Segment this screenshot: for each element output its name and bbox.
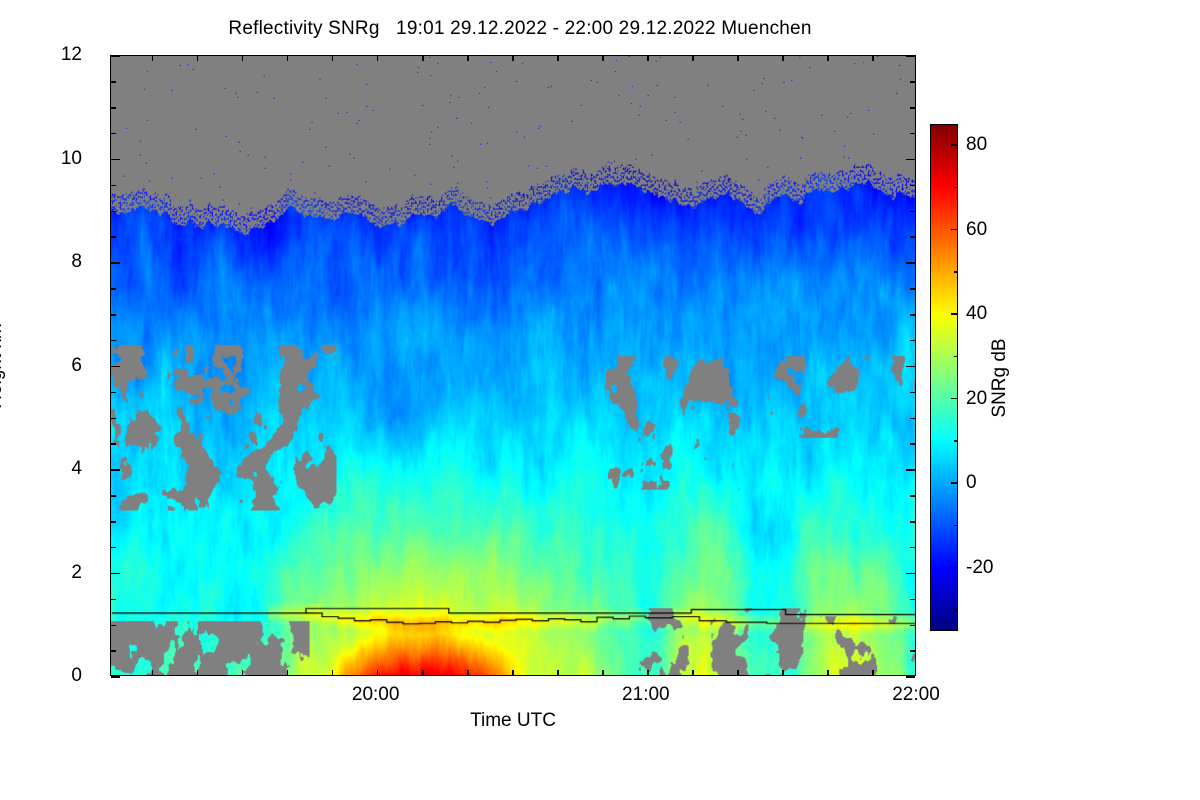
x-tick-bottom <box>827 670 829 675</box>
x-tick-bottom <box>287 670 289 675</box>
colorbar-tick <box>951 482 958 484</box>
y-tick-right <box>906 573 915 575</box>
y-tick-left <box>111 573 120 575</box>
x-tick-bottom <box>647 670 649 675</box>
y-tick-right <box>910 185 915 187</box>
page-title: Reflectivity SNRg 19:01 29.12.2022 - 22:… <box>0 18 1040 40</box>
y-tick-right <box>910 340 915 342</box>
x-tick-label: 22:00 <box>892 684 940 706</box>
y-tick-left <box>111 211 116 213</box>
x-tick-top <box>602 56 604 61</box>
y-tick-left <box>111 288 116 290</box>
y-tick-label: 6 <box>71 355 82 377</box>
y-tick-label: 4 <box>71 458 82 480</box>
y-tick-right <box>906 55 915 57</box>
y-tick-label: 0 <box>71 665 82 687</box>
x-axis-labels: 20:0021:0022:00 <box>110 684 916 710</box>
x-tick-bottom <box>557 670 559 675</box>
x-tick-top <box>647 56 649 61</box>
colorbar-tick <box>951 229 958 231</box>
y-tick-left <box>111 469 120 471</box>
y-tick-left <box>111 495 116 497</box>
colorbar-tick <box>954 440 958 442</box>
y-tick-left <box>111 314 116 316</box>
colorbar-tick <box>954 356 958 358</box>
y-tick-left <box>111 55 120 57</box>
y-tick-right <box>910 547 915 549</box>
x-tick-bottom <box>422 670 424 675</box>
y-tick-right <box>910 418 915 420</box>
colorbar-tick-label: -20 <box>966 557 993 579</box>
y-tick-right <box>910 625 915 627</box>
y-tick-left <box>111 81 116 83</box>
y-tick-left <box>111 159 120 161</box>
x-tick-top <box>557 56 559 61</box>
x-tick-top <box>737 56 739 61</box>
x-tick-bottom <box>512 670 514 675</box>
x-tick-bottom <box>197 670 199 675</box>
y-tick-right <box>910 133 915 135</box>
y-tick-right <box>910 236 915 238</box>
reflectivity-heatmap[interactable] <box>111 56 915 675</box>
y-tick-right <box>910 650 915 652</box>
y-tick-left <box>111 443 116 445</box>
y-tick-right <box>910 443 915 445</box>
colorbar-tick-label: 40 <box>966 303 987 325</box>
y-tick-left <box>111 547 116 549</box>
y-tick-right <box>906 159 915 161</box>
y-tick-right <box>910 81 915 83</box>
y-tick-left <box>111 133 116 135</box>
y-tick-left <box>111 340 116 342</box>
y-tick-left <box>111 107 116 109</box>
colorbar-tick <box>954 525 958 527</box>
x-axis-title: Time UTC <box>0 710 1026 732</box>
x-tick-bottom <box>377 670 379 675</box>
y-tick-right <box>910 288 915 290</box>
y-tick-left <box>111 599 116 601</box>
y-tick-right <box>910 211 915 213</box>
colorbar-tick <box>954 187 958 189</box>
y-tick-right <box>906 676 915 678</box>
y-axis-title: Height km <box>0 323 7 409</box>
x-tick-top <box>332 56 334 61</box>
colorbar-tick <box>951 313 958 315</box>
y-tick-right <box>906 469 915 471</box>
y-axis-labels: 024681012 <box>0 55 100 676</box>
x-tick-top <box>242 56 244 61</box>
colorbar-tick-label: 0 <box>966 472 977 494</box>
y-tick-left <box>111 262 120 264</box>
colorbar[interactable]: -20020406080 <box>930 124 958 631</box>
y-tick-right <box>910 521 915 523</box>
y-tick-right <box>906 366 915 368</box>
y-tick-left <box>111 236 116 238</box>
y-tick-left <box>111 392 116 394</box>
colorbar-title: SNRg dB <box>989 338 1011 417</box>
x-tick-bottom <box>872 670 874 675</box>
y-tick-left <box>111 185 116 187</box>
y-tick-right <box>910 599 915 601</box>
x-tick-bottom <box>467 670 469 675</box>
x-tick-bottom <box>332 670 334 675</box>
y-tick-label: 12 <box>61 44 82 66</box>
y-tick-left <box>111 366 120 368</box>
y-tick-right <box>910 392 915 394</box>
colorbar-tick <box>954 609 958 611</box>
x-tick-top <box>287 56 289 61</box>
x-tick-top <box>152 56 154 61</box>
y-tick-right <box>906 262 915 264</box>
x-tick-top <box>422 56 424 61</box>
y-tick-left <box>111 521 116 523</box>
x-tick-bottom <box>782 670 784 675</box>
colorbar-tick <box>954 271 958 273</box>
y-tick-right <box>910 107 915 109</box>
colorbar-tick-label: 60 <box>966 219 987 241</box>
colorbar-tick <box>951 567 958 569</box>
x-tick-top <box>467 56 469 61</box>
y-tick-left <box>111 418 116 420</box>
x-tick-bottom <box>152 670 154 675</box>
x-tick-top <box>827 56 829 61</box>
colorbar-frame <box>930 124 958 631</box>
y-tick-left <box>111 676 120 678</box>
y-tick-left <box>111 650 116 652</box>
x-tick-bottom <box>242 670 244 675</box>
radar-time-height-figure: Reflectivity SNRg 19:01 29.12.2022 - 22:… <box>0 0 1200 800</box>
y-tick-label: 8 <box>71 251 82 273</box>
y-tick-left <box>111 625 116 627</box>
colorbar-tick-label: 80 <box>966 134 987 156</box>
plot-area[interactable] <box>110 55 916 676</box>
x-tick-top <box>512 56 514 61</box>
x-tick-bottom <box>737 670 739 675</box>
colorbar-tick-label: 20 <box>966 388 987 410</box>
colorbar-tick <box>951 144 958 146</box>
x-tick-label: 21:00 <box>622 684 670 706</box>
x-tick-top <box>782 56 784 61</box>
y-tick-label: 10 <box>61 148 82 170</box>
colorbar-tick <box>951 398 958 400</box>
y-tick-right <box>910 314 915 316</box>
x-tick-bottom <box>692 670 694 675</box>
x-tick-top <box>872 56 874 61</box>
y-tick-label: 2 <box>71 562 82 584</box>
x-tick-top <box>197 56 199 61</box>
x-tick-top <box>692 56 694 61</box>
x-tick-label: 20:00 <box>352 684 400 706</box>
x-tick-top <box>377 56 379 61</box>
x-tick-bottom <box>602 670 604 675</box>
y-tick-right <box>910 495 915 497</box>
